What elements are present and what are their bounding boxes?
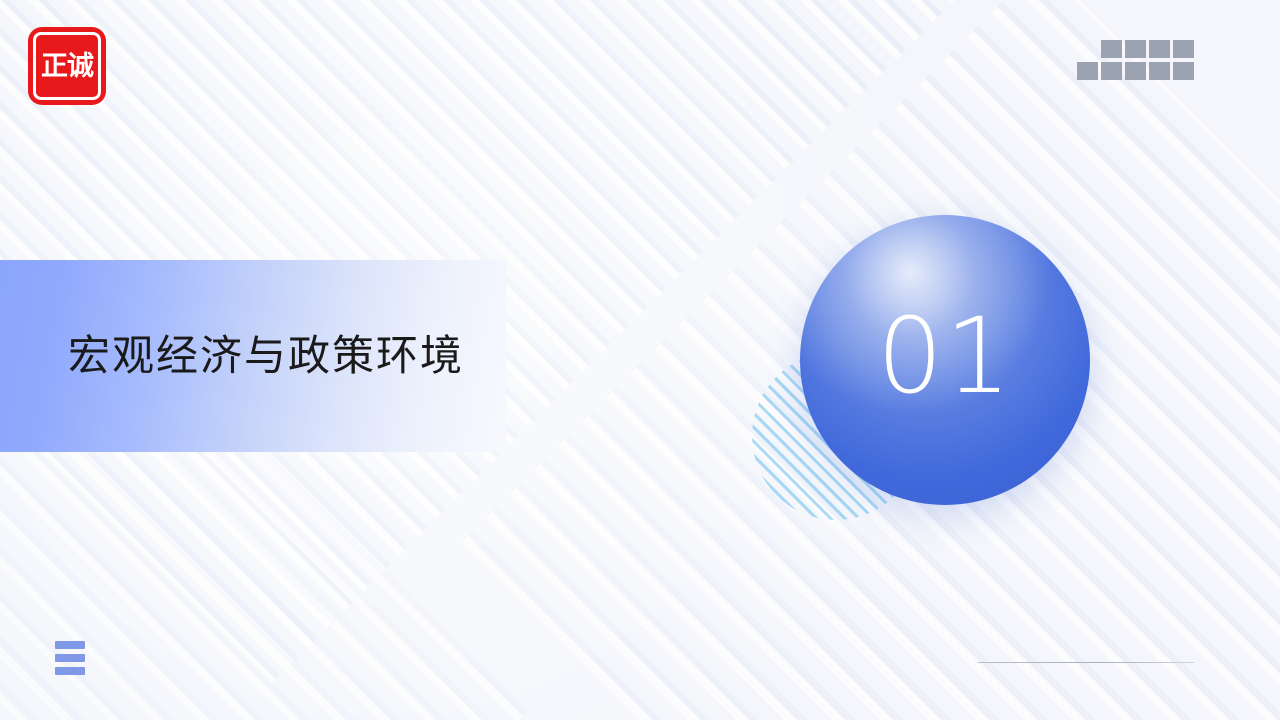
checker-square xyxy=(1173,40,1194,58)
checker-square xyxy=(1125,40,1146,58)
section-title-text: 宏观经济与政策环境 xyxy=(68,331,464,381)
checker-square xyxy=(1173,62,1194,80)
company-logo-text: 正诚 xyxy=(41,53,93,80)
checker-square xyxy=(1149,62,1170,80)
company-logo: 正诚 xyxy=(28,27,106,105)
menu-icon-bar xyxy=(55,654,85,662)
checker-square xyxy=(1125,62,1146,80)
footer-rule xyxy=(978,662,1194,663)
company-logo-border: 正诚 xyxy=(33,32,101,100)
checker-square xyxy=(1101,40,1122,58)
section-title-band: 宏观经济与政策环境 xyxy=(0,260,506,452)
checker-square xyxy=(1149,40,1170,58)
menu-icon-bar xyxy=(55,641,85,649)
menu-icon[interactable] xyxy=(55,641,85,675)
section-number-text: 01 xyxy=(877,304,1013,408)
section-number-ball: 01 xyxy=(800,215,1090,505)
checker-square xyxy=(1077,62,1098,80)
checkerboard-decoration-icon xyxy=(1077,40,1207,80)
slide-canvas: 正诚 宏观经济与政策环境 01 xyxy=(0,0,1280,720)
checker-square xyxy=(1101,62,1122,80)
menu-icon-bar xyxy=(55,667,85,675)
